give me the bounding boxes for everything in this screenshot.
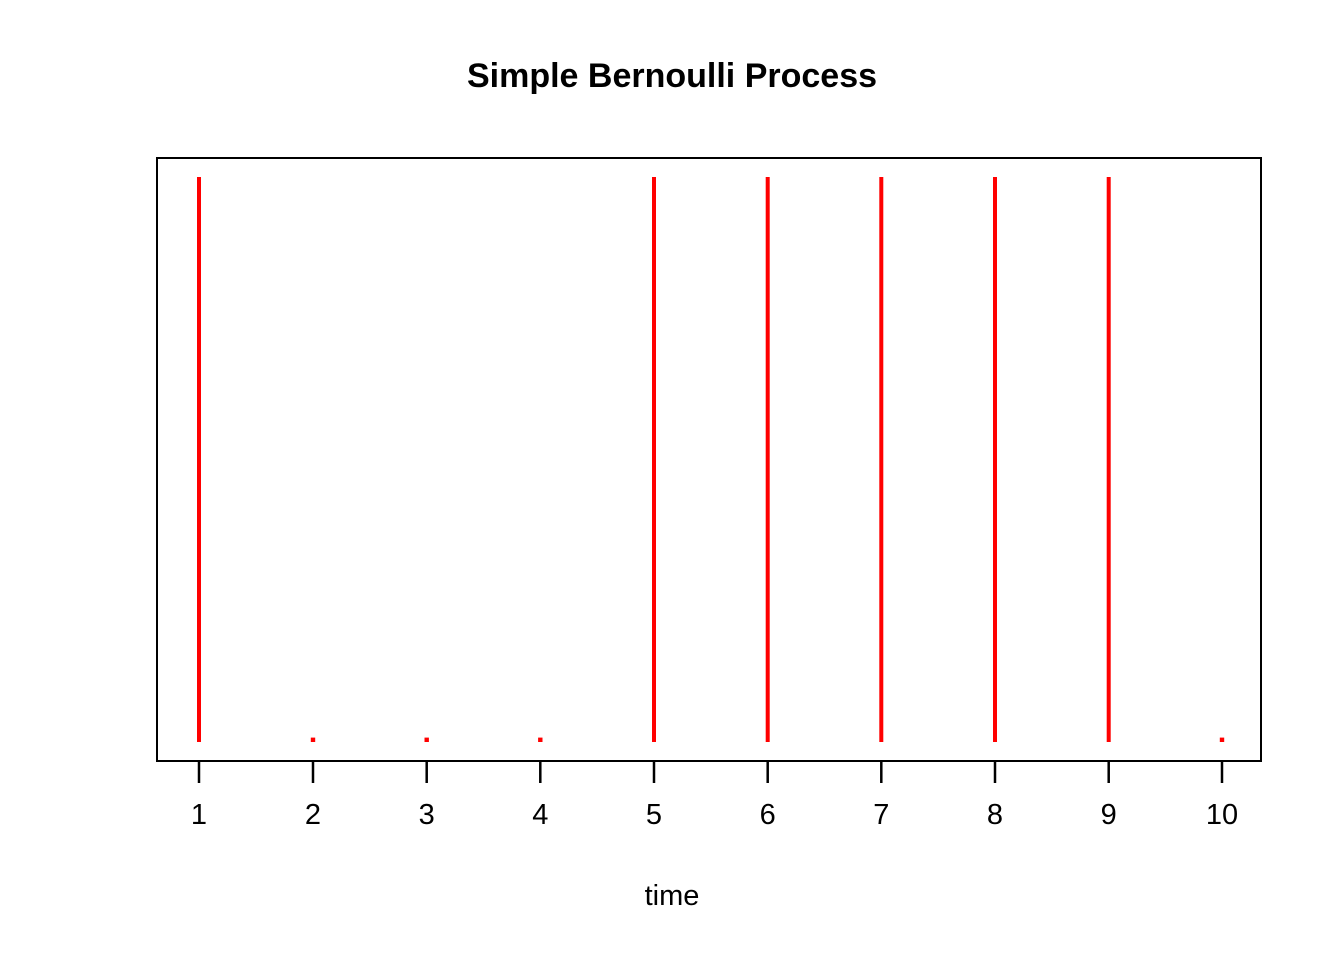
x-tick-label: 2 <box>305 798 321 832</box>
x-axis-ticks <box>156 762 1262 792</box>
x-axis-title: time <box>0 880 1344 913</box>
x-tick-label: 9 <box>1101 798 1117 832</box>
x-tick-label: 5 <box>646 798 662 832</box>
x-tick-label: 6 <box>760 798 776 832</box>
x-tick-label: 8 <box>987 798 1003 832</box>
x-tick-label: 3 <box>419 798 435 832</box>
x-tick-label: 10 <box>1206 798 1238 832</box>
x-tick-label: 1 <box>191 798 207 832</box>
chart-canvas: Simple Bernoulli Process 12345678910 tim… <box>0 0 1344 960</box>
plot-frame <box>156 157 1262 762</box>
x-tick-label-group: 12345678910 <box>0 798 1344 846</box>
x-tick-label: 7 <box>873 798 889 832</box>
x-tick-label: 4 <box>532 798 548 832</box>
x-axis <box>156 762 1262 792</box>
chart-title: Simple Bernoulli Process <box>0 57 1344 96</box>
